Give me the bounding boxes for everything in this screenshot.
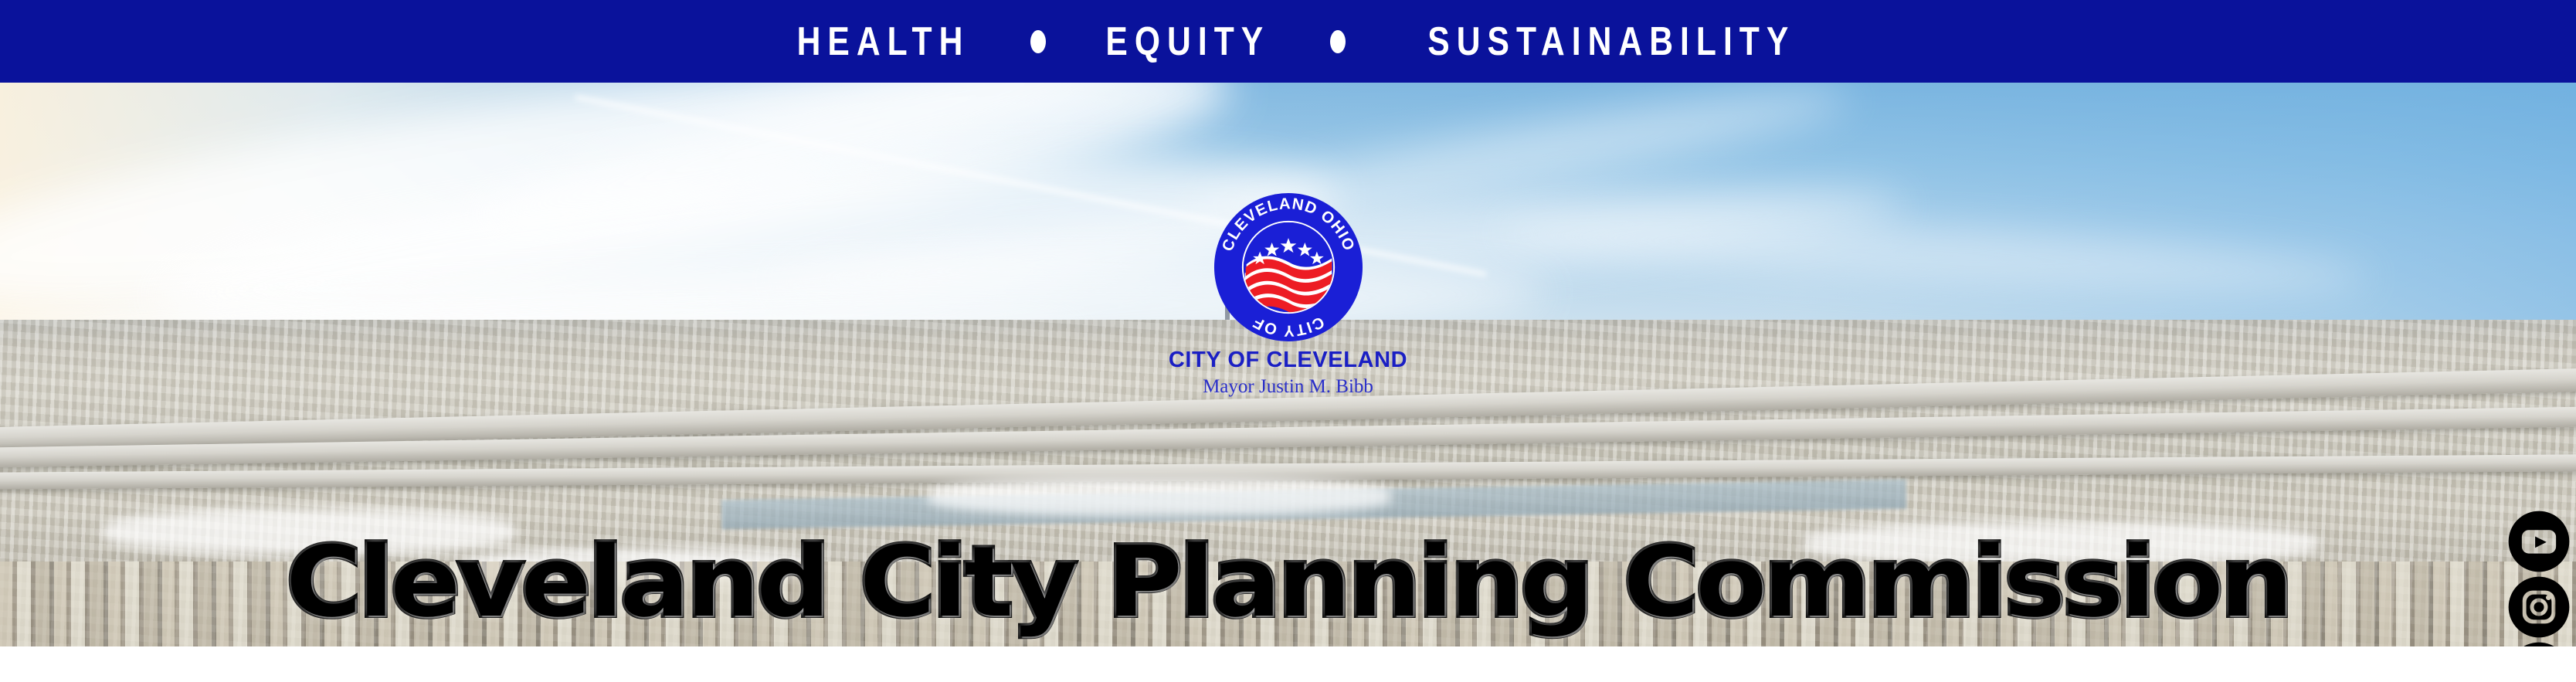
city-of-cleveland-seal-logo: CLEVELAND OHIO CITY OF	[1213, 192, 1363, 342]
mayor-name: Mayor Justin M. Bibb	[0, 375, 2576, 399]
tagline-inner: HEALTH EQUITY SUSTAINABILITY	[778, 22, 1835, 62]
dot-separator-icon	[1330, 30, 1346, 53]
tagline-banner: HEALTH EQUITY SUSTAINABILITY	[0, 0, 2576, 83]
instagram-icon[interactable]	[2507, 575, 2571, 639]
tagline-word-sustainability: SUSTAINABILITY	[1427, 22, 1795, 62]
hero-photo: CLEVELAND OHIO CITY OF	[0, 83, 2576, 646]
page-title: Cleveland City Planning Commission	[0, 534, 2576, 631]
tagline-word-health: HEALTH	[796, 22, 969, 62]
youtube-icon[interactable]	[2507, 510, 2571, 573]
org-name: CITY OF CLEVELAND	[0, 348, 2576, 372]
logo-wordmark: CITY OF CLEVELAND Mayor Justin M. Bibb	[0, 348, 2576, 399]
tagline-word-equity: EQUITY	[1105, 22, 1270, 62]
facebook-icon[interactable]	[2507, 641, 2571, 646]
dot-separator-icon	[1030, 30, 1046, 53]
page-root: HEALTH EQUITY SUSTAINABILITY	[0, 0, 2576, 682]
social-media-links	[2507, 510, 2571, 646]
